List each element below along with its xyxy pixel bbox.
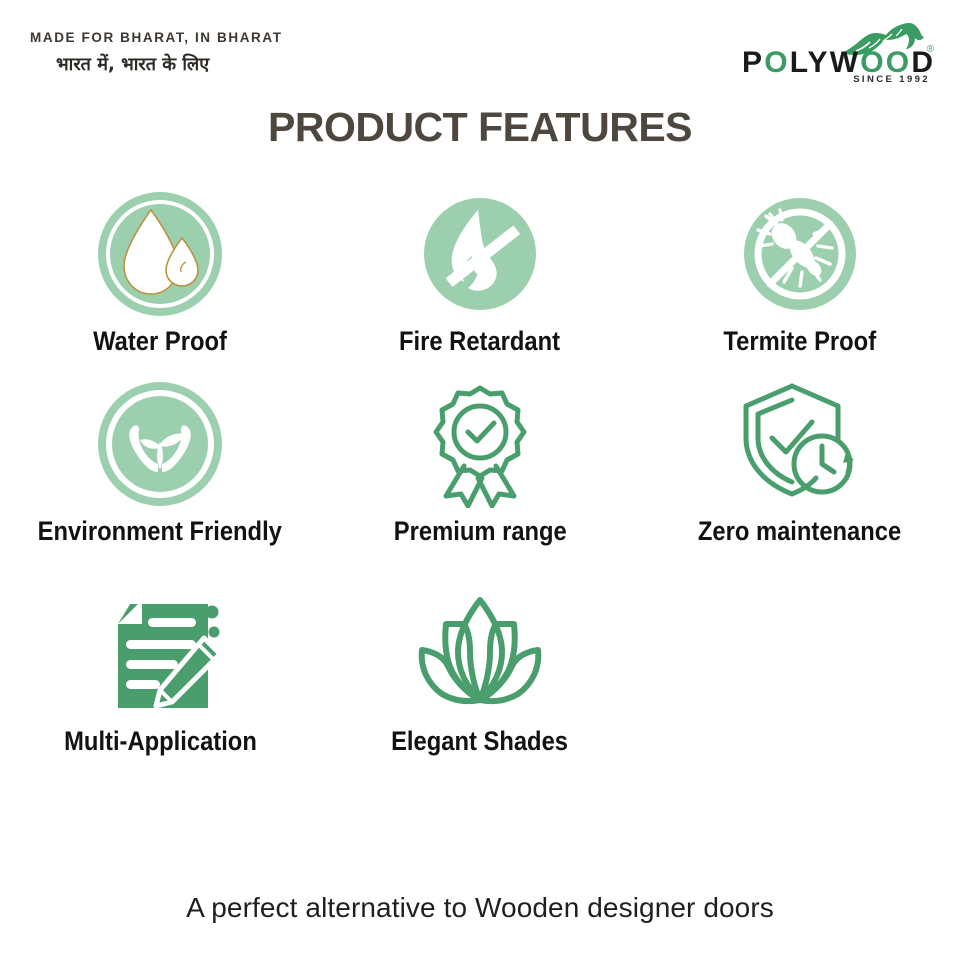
tagline-english: MADE FOR BHARAT, IN BHARAT [30,30,283,45]
no-termite-icon [736,190,864,318]
page-title: PRODUCT FEATURES [0,104,960,151]
feature-label: Termite Proof [724,326,877,357]
features-row-2: Environment Friendly Premium range [0,380,960,590]
logo-letter-o1: O [764,46,790,79]
logo-letters-lyw: LYW [790,46,861,79]
feature-label: Fire Retardant [399,326,560,357]
logo-since-text: SINCE 1992 [853,74,930,85]
logo-letter-p: P [742,46,764,79]
features-row-1: Water Proof Fire Retardant [0,190,960,380]
water-drop-icon [96,190,224,318]
document-pencil-icon [96,590,224,718]
feature-label: Multi-Application [64,726,257,757]
tagline-hindi: भारत में, भारत के लिए [56,52,283,76]
features-row-3: Multi-Application Elegant Shades [0,590,960,780]
feature-label: Elegant Shades [392,726,569,757]
registered-trademark-icon: ® [927,44,934,55]
product-features-poster: MADE FOR BHARAT, IN BHARAT भारत में, भार… [0,0,960,960]
hands-plant-icon [96,380,224,508]
polywood-logo: POLYWOOD ® SINCE 1992 [742,24,932,86]
feature-label: Premium range [393,516,566,547]
no-fire-icon [416,190,544,318]
feature-termite-proof: Termite Proof [640,190,960,380]
feature-environment-friendly: Environment Friendly [0,380,320,590]
feature-elegant-shades: Elegant Shades [320,590,640,780]
feature-label: Environment Friendly [38,516,282,547]
feature-premium-range: Premium range [320,380,640,590]
footer-tagline: A perfect alternative to Wooden designer… [0,892,960,924]
feature-label: Water Proof [93,326,227,357]
feature-zero-maintenance: Zero maintenance [640,380,960,590]
award-ribbon-icon [416,380,544,508]
feature-fire-retardant: Fire Retardant [320,190,640,380]
feature-label: Zero maintenance [698,516,901,547]
shield-clock-icon [736,380,864,508]
feature-water-proof: Water Proof [0,190,320,380]
features-grid: Water Proof Fire Retardant [0,190,960,780]
header: MADE FOR BHARAT, IN BHARAT भारत में, भार… [0,0,960,100]
feature-multi-application: Multi-Application [0,590,320,780]
made-in-bharat-tagline: MADE FOR BHARAT, IN BHARAT भारत में, भार… [30,30,283,76]
lotus-flower-icon [416,590,544,718]
